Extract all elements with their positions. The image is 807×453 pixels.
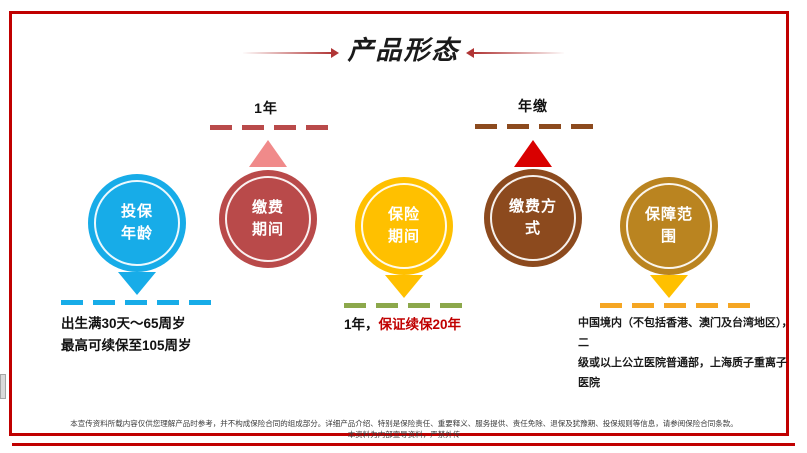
- footer-line1: 本宣传资料所载内容仅供您理解产品时参考，并不构成保险合同的组成部分。详细产品介绍…: [40, 418, 768, 429]
- node-label-line2: 围: [661, 228, 677, 245]
- connector-triangle-up-icon: [514, 140, 552, 167]
- connector-dashed-rule: [600, 303, 760, 308]
- connector-triangle-down-icon: [118, 272, 156, 295]
- desc-highlight: 保证续保20年: [379, 317, 462, 332]
- desc-line2: 级或以上公立医院普通部，上海质子重离子医院: [578, 353, 793, 393]
- node-insurance-period-label: 保险 期间: [355, 177, 453, 275]
- page-title: 产品形态: [0, 30, 807, 67]
- node-payment-method-top-label: 年缴: [488, 96, 578, 116]
- node-circle[interactable]: 缴费 期间: [219, 170, 317, 268]
- title-area: 产品形态: [0, 30, 807, 74]
- node-circle[interactable]: 保险 期间: [355, 177, 453, 275]
- footer-rule: [12, 443, 795, 446]
- desc-prefix: 1年，: [344, 317, 379, 332]
- node-payment-period-top-label: 1年: [221, 98, 311, 118]
- left-edge-scroll-artifact[interactable]: [0, 374, 6, 399]
- node-payment-period-shape[interactable]: 缴费 期间: [219, 170, 317, 268]
- node-payment-method-label: 缴费方 式: [484, 169, 582, 267]
- desc-line1: 出生满30天～65周岁: [61, 313, 301, 335]
- node-label-line1: 投保: [121, 203, 153, 220]
- connector-dashed-rule: [344, 303, 469, 308]
- node-label-line2: 年龄: [121, 225, 153, 242]
- node-label-line2: 期间: [252, 221, 284, 238]
- node-payment-method-shape[interactable]: 缴费方 式: [484, 169, 582, 267]
- node-label-line2: 式: [525, 220, 541, 237]
- node-insurance-period-description: 1年，保证续保20年: [344, 314, 574, 336]
- node-insurance-age-label: 投保 年龄: [88, 174, 186, 272]
- node-circle[interactable]: 缴费方 式: [484, 169, 582, 267]
- node-insurance-period-shape[interactable]: 保险 期间: [355, 177, 453, 275]
- connector-dashed-rule: [61, 300, 219, 305]
- desc-line2: 最高可续保至105周岁: [61, 335, 301, 357]
- node-circle[interactable]: 投保 年龄: [88, 174, 186, 272]
- footer-line2: 本资料为内部宣导资料，严禁外传: [40, 429, 768, 440]
- node-insurance-age-description: 出生满30天～65周岁 最高可续保至105周岁: [61, 313, 301, 357]
- title-arrow-right-icon: [466, 48, 474, 58]
- connector-triangle-down-icon: [650, 275, 688, 298]
- top-dashed-rule: [210, 125, 335, 130]
- connector-triangle-down-icon: [385, 275, 423, 298]
- node-label-line2: 期间: [388, 228, 420, 245]
- node-label-line1: 保障范: [645, 206, 693, 223]
- node-payment-period-label: 缴费 期间: [219, 170, 317, 268]
- node-coverage-scope-shape[interactable]: 保障范 围: [620, 177, 718, 275]
- top-dashed-rule: [475, 124, 600, 129]
- desc-line1: 中国境内（不包括香港、澳门及台湾地区），二: [578, 313, 793, 353]
- node-coverage-scope-description: 中国境内（不包括香港、澳门及台湾地区），二 级或以上公立医院普通部，上海质子重离…: [578, 313, 793, 393]
- connector-triangle-up-icon: [249, 140, 287, 167]
- node-label-line1: 缴费方: [509, 198, 557, 215]
- title-decor-line-right: [474, 52, 564, 54]
- node-coverage-scope-label: 保障范 围: [620, 177, 718, 275]
- node-label-line1: 缴费: [252, 199, 284, 216]
- footer-disclaimer: 本宣传资料所载内容仅供您理解产品时参考，并不构成保险合同的组成部分。详细产品介绍…: [40, 418, 768, 440]
- node-label-line1: 保险: [388, 206, 420, 223]
- slide-canvas: 产品形态 投保 年龄 出生满30天～65周岁 最高可续保至105周岁: [0, 0, 807, 453]
- node-insurance-age-shape[interactable]: 投保 年龄: [88, 174, 186, 272]
- node-circle[interactable]: 保障范 围: [620, 177, 718, 275]
